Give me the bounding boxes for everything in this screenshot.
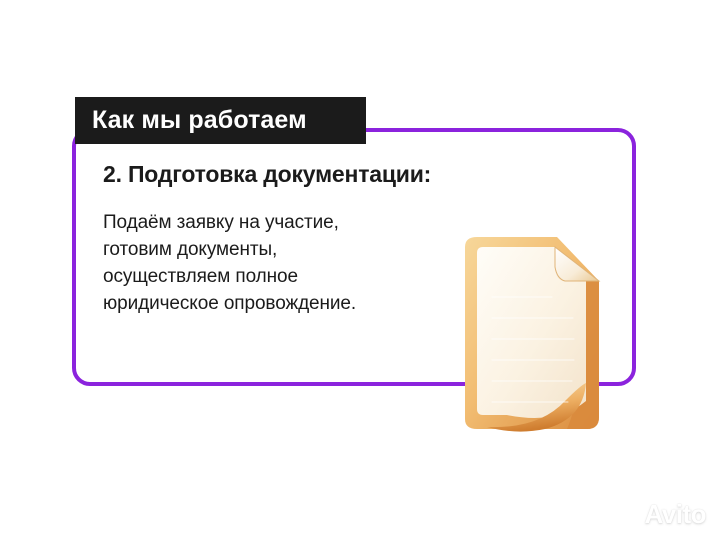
section-header-label: Как мы работаем bbox=[92, 108, 307, 133]
step-heading: 2. Подготовка документации: bbox=[103, 162, 463, 188]
card-content: 2. Подготовка документации: Подаём заявк… bbox=[103, 162, 463, 318]
step-body-text: Подаём заявку на участие, готовим докуме… bbox=[103, 210, 378, 318]
slide-canvas: Как мы работаем 2. Подготовка документац… bbox=[0, 0, 720, 540]
avito-wordmark: Avito bbox=[644, 501, 706, 527]
section-header-tab: Как мы работаем bbox=[75, 97, 366, 144]
avito-watermark: Avito bbox=[609, 500, 706, 528]
document-icon bbox=[447, 233, 617, 440]
avito-logo-icon bbox=[609, 500, 639, 528]
